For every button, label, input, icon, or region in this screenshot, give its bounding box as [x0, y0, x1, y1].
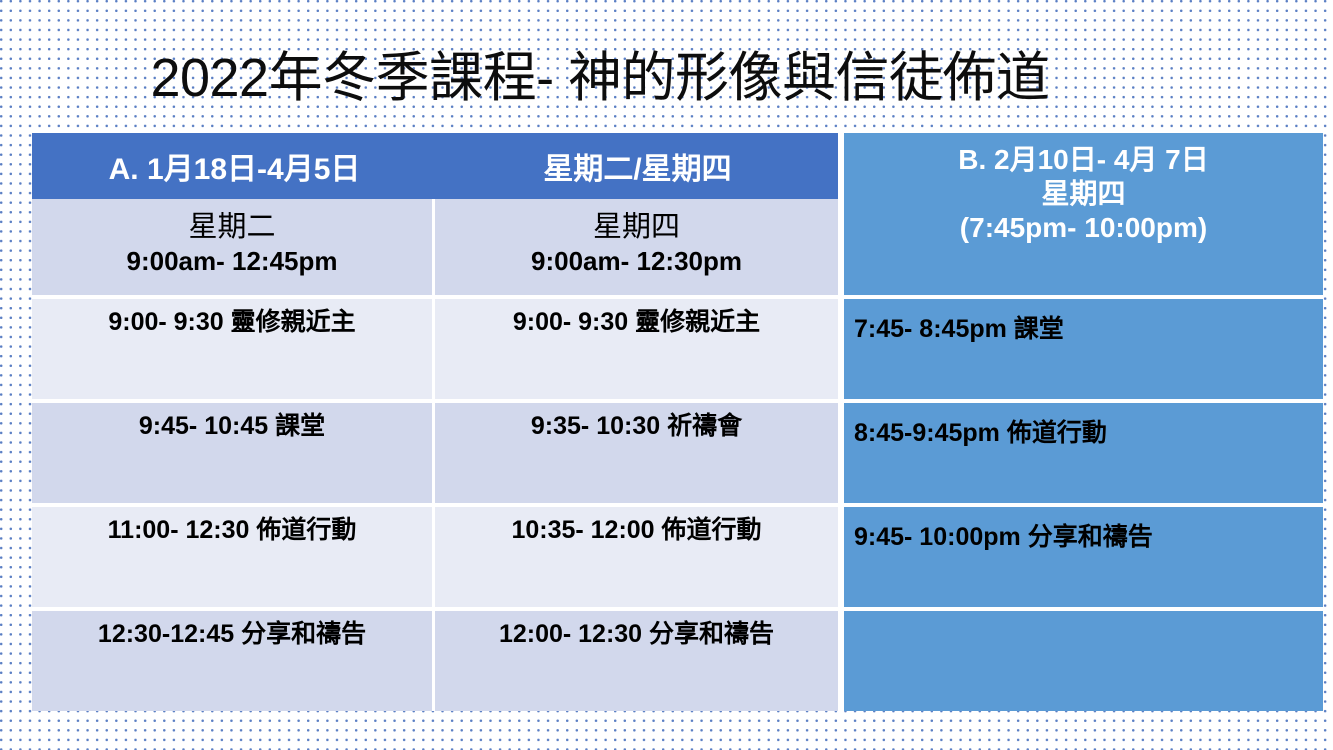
- page-title: 2022年冬季課程- 神的形像與信徒佈道: [0, 50, 1200, 107]
- schedule-table: A. 1月18日-4月5日 星期二/星期四 星期二 9:00am- 12:45p…: [32, 133, 1323, 724]
- subheader-day-thursday: 星期四: [441, 209, 832, 245]
- cell-text: 9:45- 10:45 課堂: [38, 411, 426, 442]
- cell-thursday-1: 9:00- 9:30 靈修親近主: [435, 299, 838, 399]
- cell-tuesday-2: 9:45- 10:45 課堂: [32, 403, 435, 503]
- group-b-header: B. 2月10日- 4月 7日 星期四 (7:45pm- 10:00pm): [844, 133, 1323, 295]
- subheader-time-thursday: 9:00am- 12:30pm: [441, 245, 832, 278]
- slide-canvas: 2022年冬季課程- 神的形像與信徒佈道 A. 1月18日-4月5日 星期二/星…: [0, 0, 1333, 750]
- group-a-header: A. 1月18日-4月5日 星期二/星期四: [32, 133, 838, 199]
- cell-text: 11:00- 12:30 佈道行動: [38, 515, 426, 546]
- cell-text: 9:35- 10:30 祈禱會: [441, 411, 832, 442]
- table-row: 12:30-12:45 分享和禱告 12:00- 12:30 分享和禱告: [32, 607, 838, 711]
- subheader-cell-tuesday: 星期二 9:00am- 12:45pm: [32, 199, 435, 295]
- cell-text: 12:30-12:45 分享和禱告: [38, 619, 426, 650]
- group-b-header-time: (7:45pm- 10:00pm): [844, 211, 1323, 245]
- cell-thursday-evening-2: 8:45-9:45pm 佈道行動: [844, 399, 1323, 503]
- group-b-header-dates: B. 2月10日- 4月 7日: [844, 143, 1323, 177]
- cell-text: 9:00- 9:30 靈修親近主: [38, 307, 426, 338]
- cell-thursday-3: 10:35- 12:00 佈道行動: [435, 507, 838, 607]
- cell-tuesday-1: 9:00- 9:30 靈修親近主: [32, 299, 435, 399]
- cell-thursday-evening-3: 9:45- 10:00pm 分享和禱告: [844, 503, 1323, 607]
- group-b-rows: 7:45- 8:45pm 課堂 8:45-9:45pm 佈道行動 9:45- 1…: [844, 295, 1323, 724]
- group-b-header-day: 星期四: [844, 177, 1323, 211]
- group-a-subheader-row: 星期二 9:00am- 12:45pm 星期四 9:00am- 12:30pm: [32, 199, 838, 295]
- cell-tuesday-4: 12:30-12:45 分享和禱告: [32, 611, 435, 711]
- cell-thursday-2: 9:35- 10:30 祈禱會: [435, 403, 838, 503]
- subheader-day-tuesday: 星期二: [38, 209, 426, 245]
- cell-text: 12:00- 12:30 分享和禱告: [441, 619, 832, 650]
- cell-text: 9:00- 9:30 靈修親近主: [441, 307, 832, 338]
- group-a-rows: 星期二 9:00am- 12:45pm 星期四 9:00am- 12:30pm …: [32, 199, 838, 724]
- group-a-header-days: 星期二/星期四: [437, 144, 838, 188]
- cell-tuesday-3: 11:00- 12:30 佈道行動: [32, 507, 435, 607]
- cell-thursday-evening-4: [844, 607, 1323, 711]
- schedule-group-b: B. 2月10日- 4月 7日 星期四 (7:45pm- 10:00pm) 7:…: [838, 133, 1323, 724]
- table-row: 9:00- 9:30 靈修親近主 9:00- 9:30 靈修親近主: [32, 295, 838, 399]
- subheader-cell-thursday: 星期四 9:00am- 12:30pm: [435, 199, 838, 295]
- cell-thursday-4: 12:00- 12:30 分享和禱告: [435, 611, 838, 711]
- schedule-group-a: A. 1月18日-4月5日 星期二/星期四 星期二 9:00am- 12:45p…: [32, 133, 838, 724]
- cell-text: 10:35- 12:00 佈道行動: [441, 515, 832, 546]
- table-row: 11:00- 12:30 佈道行動 10:35- 12:00 佈道行動: [32, 503, 838, 607]
- group-a-header-dates: A. 1月18日-4月5日: [32, 144, 437, 188]
- cell-thursday-evening-1: 7:45- 8:45pm 課堂: [844, 295, 1323, 399]
- subheader-time-tuesday: 9:00am- 12:45pm: [38, 245, 426, 278]
- table-row: 9:45- 10:45 課堂 9:35- 10:30 祈禱會: [32, 399, 838, 503]
